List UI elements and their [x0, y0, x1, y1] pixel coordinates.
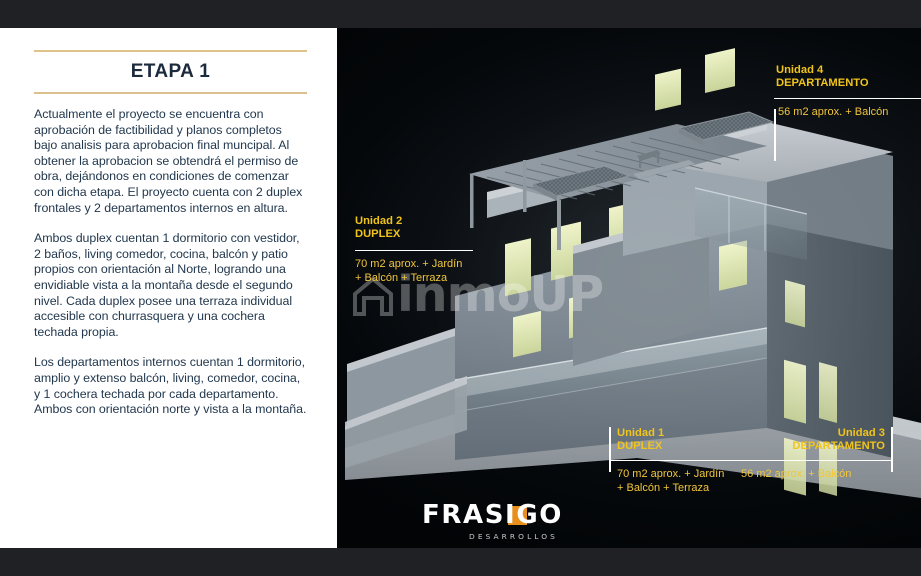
brand-logo: FRASIGO DESARROLLOS: [422, 501, 602, 545]
paragraph-2: Ambos duplex cuentan 1 dormitorio con ve…: [34, 231, 307, 340]
callout-u4-subtitle: DEPARTAMENTO: [776, 77, 921, 90]
presentation-slide: ETAPA 1 Actualmente el proyecto se encue…: [0, 0, 921, 576]
callout-u3-rule: [741, 460, 893, 462]
bottom-band: [0, 548, 921, 576]
callout-u3-subtitle: DEPARTAMENTO: [741, 440, 885, 453]
brand-tagline: DESARROLLOS: [422, 532, 602, 541]
callout-u3-description: 56 m2 aprox. + Balcón: [741, 467, 891, 481]
callout-u1-subtitle: DUPLEX: [617, 440, 757, 453]
body-text: Actualmente el proyecto se encuentra con…: [34, 107, 307, 418]
callout-unidad-3: Unidad 3 DEPARTAMENTO 56 m2 aprox. + Bal…: [741, 427, 893, 481]
callout-u4-description: 56 m2 aprox. + Balcón: [778, 105, 921, 119]
callout-u1-leader-line: [609, 427, 611, 472]
top-band: [0, 0, 921, 28]
callout-u1-title: Unidad 1: [617, 427, 757, 440]
callout-u3-title: Unidad 3: [741, 427, 885, 440]
callout-u4-title: Unidad 4: [776, 64, 921, 77]
callout-u2-subtitle: DUPLEX: [355, 228, 473, 241]
callout-unidad-4: Unidad 4 DEPARTAMENTO 56 m2 aprox. + Bal…: [774, 64, 921, 119]
callout-u3-leader-line: [891, 427, 893, 472]
callout-u1-rule: [610, 460, 757, 462]
callout-u2-description-line1: 70 m2 aprox. + Jardín: [355, 257, 473, 271]
text-panel: ETAPA 1 Actualmente el proyecto se encue…: [0, 28, 337, 548]
brand-name-part3: O: [539, 500, 563, 530]
callout-u1-description-line1: 70 m2 aprox. + Jardín: [617, 467, 757, 481]
title-rule-bottom: [34, 92, 307, 94]
callout-u4-rule: [774, 98, 921, 100]
callout-u1-description-line2: + Balcón + Terraza: [617, 481, 757, 495]
callout-unidad-1: Unidad 1 DUPLEX 70 m2 aprox. + Jardín + …: [609, 427, 757, 495]
title-rule-top: [34, 50, 307, 52]
callout-u4-leader-line: [774, 109, 776, 161]
callout-unidad-2: Unidad 2 DUPLEX 70 m2 aprox. + Jardín + …: [355, 215, 473, 285]
paragraph-1: Actualmente el proyecto se encuentra con…: [34, 107, 307, 216]
callout-u2-rule: [355, 250, 473, 252]
paragraph-3: Los departamentos internos cuentan 1 dor…: [34, 355, 307, 417]
render-panel: inmoUP Unidad 4 DEPARTAMENTO 56 m2 aprox…: [337, 28, 921, 548]
brand-name-part2: G: [516, 500, 539, 530]
page-title: ETAPA 1: [34, 61, 307, 83]
callout-u2-title: Unidad 2: [355, 215, 473, 228]
brand-name-part1: FRASI: [422, 500, 516, 530]
callout-u2-description-line2: + Balcón + Terraza: [355, 271, 473, 285]
